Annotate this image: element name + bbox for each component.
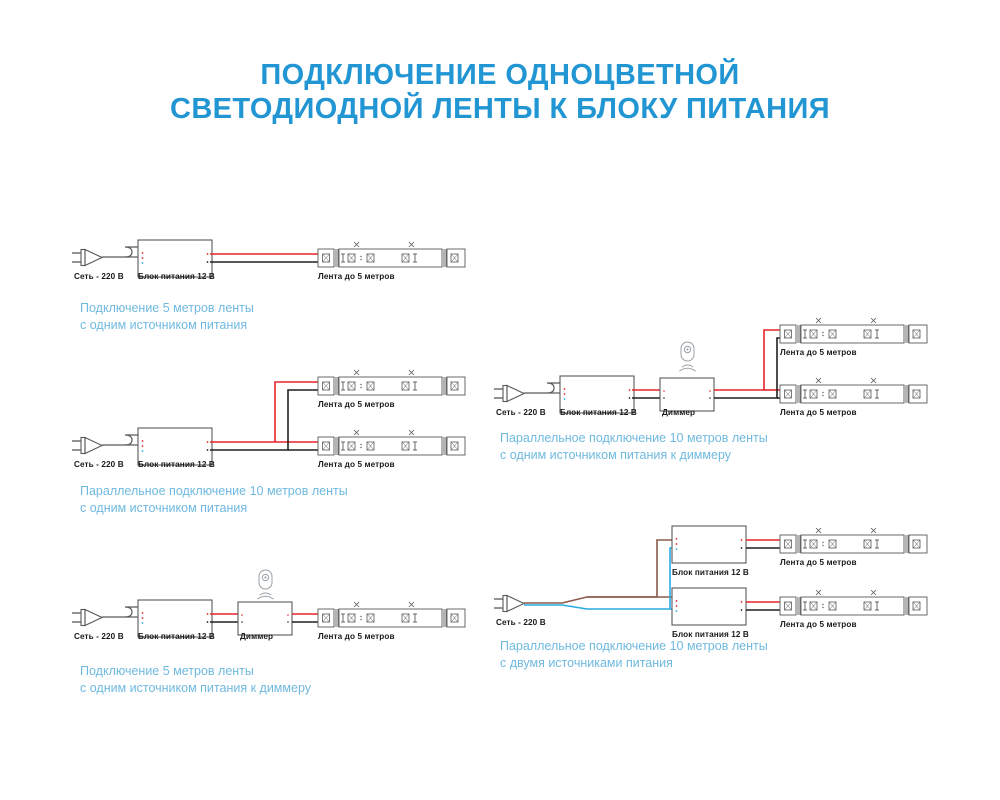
dimmer-icon [660, 378, 714, 411]
diagram-1-caption-line-1: Подключение 5 метров ленты [80, 300, 254, 317]
diagram-1-caption-line-2: с одним источником питания [80, 317, 254, 334]
diagram-2: Сеть - 220 В Блок питания 12 В Лента до … [70, 370, 490, 480]
power-plug-icon [72, 250, 102, 266]
diagram-5-caption-line-1: Параллельное подключение 10 метров ленты [500, 638, 768, 655]
diagram-4-caption-line-2: с одним источником питания к диммеру [500, 447, 768, 464]
power-plug-icon [72, 610, 102, 626]
diagram-1-svg [70, 240, 490, 300]
label-led-strip: Лента до 5 метров [780, 558, 857, 567]
wire-negative-branch [714, 338, 780, 398]
power-plug-icon [72, 438, 102, 454]
diagram-4: Сеть - 220 В Блок питания 12 В Диммер Ле… [492, 318, 932, 428]
led-strip-icon [780, 378, 927, 403]
diagram-4-svg [492, 318, 932, 428]
diagram-4-caption: Параллельное подключение 10 метров ленты… [500, 430, 768, 464]
label-led-strip: Лента до 5 метров [318, 272, 395, 281]
diagram-2-caption-line-2: с одним источником питания [80, 500, 348, 517]
label-power-supply: Блок питания 12 В [138, 460, 215, 469]
led-strip-icon [318, 242, 465, 267]
label-dimmer: Диммер [662, 408, 695, 417]
led-strip-icon [318, 602, 465, 627]
diagram-3-caption-line-2: с одним источником питания к диммеру [80, 680, 311, 697]
wire-positive-branch [210, 382, 318, 442]
led-strip-icon [780, 318, 927, 343]
label-led-strip: Лента до 5 метров [318, 400, 395, 409]
diagram-2-caption-line-1: Параллельное подключение 10 метров ленты [80, 483, 348, 500]
label-mains: Сеть - 220 В [74, 632, 124, 641]
label-mains: Сеть - 220 В [74, 272, 124, 281]
remote-control-icon [258, 570, 274, 599]
label-power-supply: Блок питания 12 В [138, 632, 215, 641]
label-led-strip: Лента до 5 метров [318, 460, 395, 469]
diagram-2-svg [70, 370, 490, 480]
page-title-line-1: ПОДКЛЮЧЕНИЕ ОДНОЦВЕТНОЙ [0, 58, 1000, 92]
wire-live-brown-upper [524, 540, 672, 603]
diagram-5-svg [492, 518, 932, 638]
label-power-supply: Блок питания 12 В [138, 272, 215, 281]
page-title: ПОДКЛЮЧЕНИЕ ОДНОЦВЕТНОЙ СВЕТОДИОДНОЙ ЛЕН… [0, 58, 1000, 126]
wire-neutral-blue-lower [524, 605, 672, 609]
diagram-1: Сеть - 220 В Блок питания 12 В Лента до … [70, 240, 490, 300]
diagram-1-caption: Подключение 5 метров ленты с одним источ… [80, 300, 254, 334]
diagram-3-caption: Подключение 5 метров ленты с одним источ… [80, 663, 311, 697]
label-mains: Сеть - 220 В [74, 460, 124, 469]
led-strip-icon [318, 430, 465, 455]
remote-control-icon [680, 342, 696, 371]
power-supply-icon [672, 526, 746, 563]
label-mains: Сеть - 220 В [496, 408, 546, 417]
diagram-3: Сеть - 220 В Блок питания 12 В Диммер Ле… [70, 570, 490, 650]
power-plug-icon [494, 596, 524, 612]
diagram-3-svg [70, 570, 490, 650]
diagram-5-caption-line-2: с двумя источниками питания [500, 655, 768, 672]
wire-negative-branch [210, 390, 318, 450]
label-led-strip: Лента до 5 метров [780, 348, 857, 357]
diagram-5: Сеть - 220 В Блок питания 12 В Блок пита… [492, 518, 932, 638]
power-supply-icon [672, 588, 746, 625]
label-led-strip: Лента до 5 метров [318, 632, 395, 641]
label-led-strip: Лента до 5 метров [780, 408, 857, 417]
label-power-supply: Блок питания 12 В [560, 408, 637, 417]
dimmer-icon [238, 602, 292, 635]
led-strip-icon [780, 528, 927, 553]
diagram-2-caption: Параллельное подключение 10 метров ленты… [80, 483, 348, 517]
label-dimmer: Диммер [240, 632, 273, 641]
diagram-5-caption: Параллельное подключение 10 метров ленты… [500, 638, 768, 672]
label-mains: Сеть - 220 В [496, 618, 546, 627]
diagram-4-caption-line-1: Параллельное подключение 10 метров ленты [500, 430, 768, 447]
label-led-strip: Лента до 5 метров [780, 620, 857, 629]
page-title-line-2: СВЕТОДИОДНОЙ ЛЕНТЫ К БЛОКУ ПИТАНИЯ [0, 92, 1000, 126]
label-power-supply: Блок питания 12 В [672, 568, 749, 577]
led-strip-icon [318, 370, 465, 395]
power-plug-icon [494, 386, 524, 402]
diagram-3-caption-line-1: Подключение 5 метров ленты [80, 663, 311, 680]
wire-positive-branch [714, 330, 780, 390]
led-strip-icon [780, 590, 927, 615]
